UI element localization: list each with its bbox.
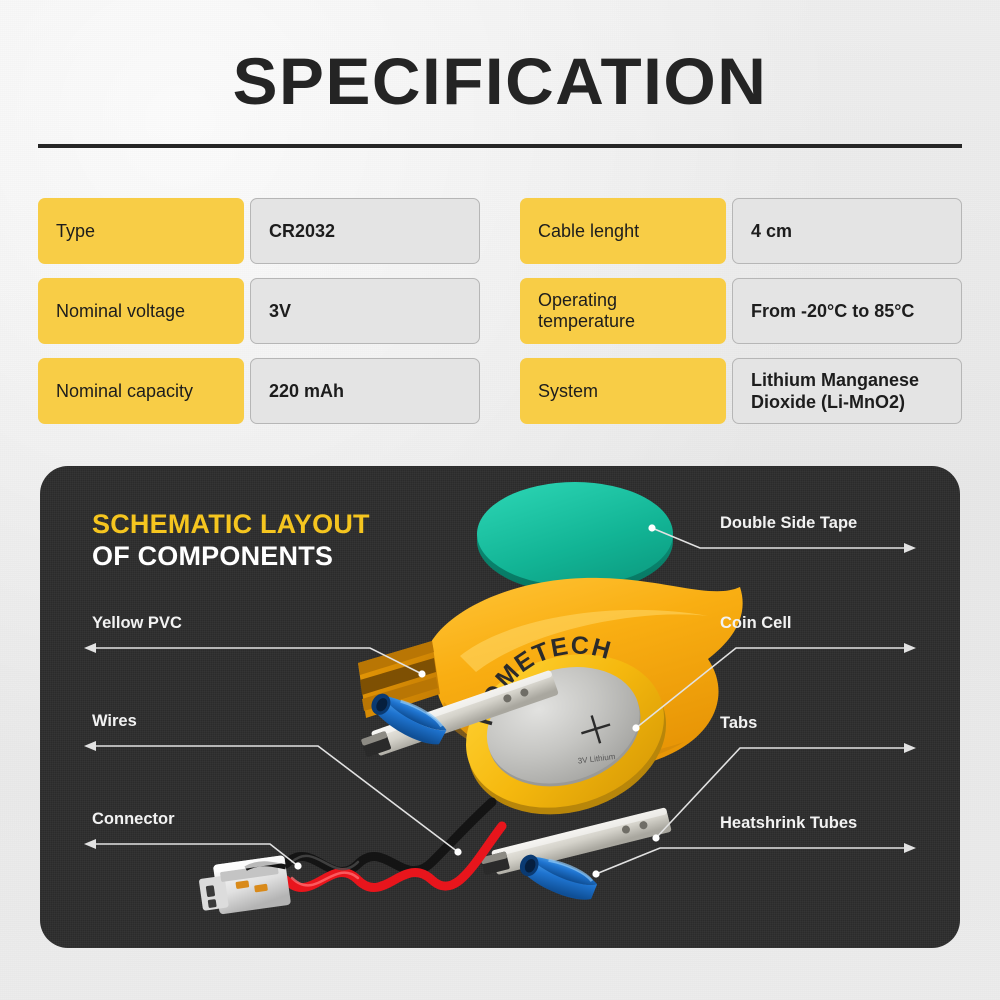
table-row: Nominal voltage 3V	[38, 278, 480, 344]
spec-value: CR2032	[250, 198, 480, 264]
page-title: SPECIFICATION	[0, 46, 1000, 116]
spec-key: System	[520, 358, 726, 424]
table-row: Type CR2032	[38, 198, 480, 264]
spec-value: 4 cm	[732, 198, 962, 264]
wires-art	[286, 802, 502, 888]
schematic-panel: SCHEMATIC LAYOUT OF COMPONENTS	[40, 466, 960, 948]
callout-wires: Wires	[92, 712, 137, 731]
tab-lower-art	[479, 807, 671, 878]
spec-key: Nominal capacity	[38, 358, 244, 424]
spec-value: Lithium Manganese Dioxide (Li-MnO2)	[732, 358, 962, 424]
spec-value: 220 mAh	[250, 358, 480, 424]
callout-connector: Connector	[92, 810, 175, 829]
table-row: System Lithium Manganese Dioxide (Li-MnO…	[520, 358, 962, 424]
spec-value: 3V	[250, 278, 480, 344]
table-row: Cable lenght 4 cm	[520, 198, 962, 264]
table-row: Nominal capacity 220 mAh	[38, 358, 480, 424]
table-row: Operating temperature From -20°C to 85°C	[520, 278, 962, 344]
spec-key: Cable lenght	[520, 198, 726, 264]
connector-art	[197, 855, 291, 917]
callout-tabs: Tabs	[720, 714, 757, 733]
spec-key: Operating temperature	[520, 278, 726, 344]
callout-coin-cell: Coin Cell	[720, 614, 792, 633]
spec-key: Nominal voltage	[38, 278, 244, 344]
schematic-heading-line1: SCHEMATIC LAYOUT	[92, 508, 370, 540]
spec-value: From -20°C to 85°C	[732, 278, 962, 344]
double-side-tape-art	[477, 482, 673, 593]
callout-yellow-pvc: Yellow PVC	[92, 614, 182, 633]
schematic-heading-line2: OF COMPONENTS	[92, 540, 370, 572]
schematic-heading: SCHEMATIC LAYOUT OF COMPONENTS	[92, 508, 370, 572]
callout-double-side-tape: Double Side Tape	[720, 514, 857, 533]
spec-key: Type	[38, 198, 244, 264]
specification-table: Type CR2032 Cable lenght 4 cm Nominal vo…	[38, 198, 962, 424]
title-divider	[38, 144, 962, 148]
callout-heatshrink-tubes: Heatshrink Tubes	[720, 814, 857, 833]
